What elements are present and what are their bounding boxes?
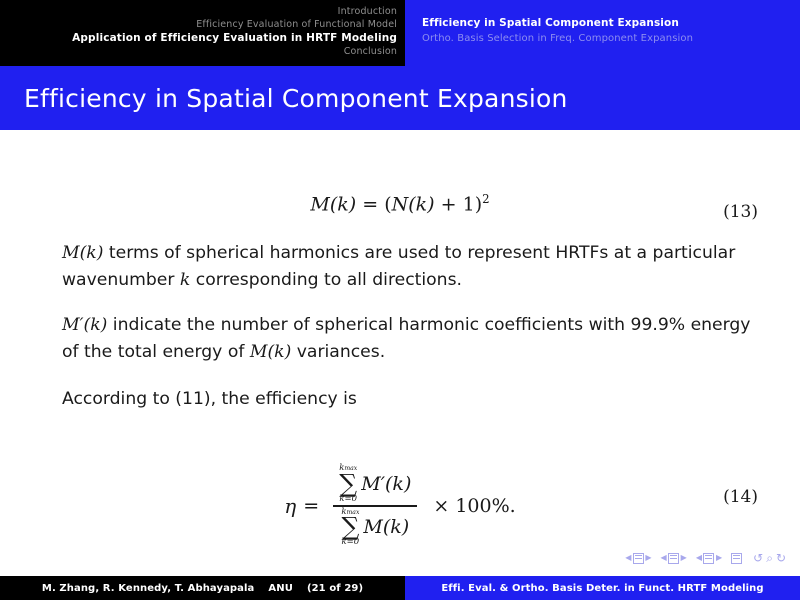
back-icon[interactable]: ↺ [753,552,763,564]
search-icon[interactable]: ⌕ [766,552,773,564]
footer-short-title: Effi. Eval. & Ortho. Basis Deter. in Fun… [441,583,763,594]
sigma-icon: ∑ [341,516,359,538]
sigma-icon: ∑ [339,473,357,495]
footer-authors-block: M. Zhang, R. Kennedy, T. Abhayapala ANU … [0,576,405,600]
next-subsection-icon[interactable]: ▶ [681,554,687,562]
nav-section-conclusion[interactable]: Conclusion [0,45,397,58]
para1-text-tail: corresponding to all directions. [190,270,462,290]
slide-box-icon[interactable] [633,553,644,564]
slide-title-bar: Efficiency in Spatial Component Expansio… [0,66,800,130]
page-title: Efficiency in Spatial Component Expansio… [24,84,568,113]
previous-subsection-icon[interactable]: ◀ [661,554,667,562]
nav-section-introduction[interactable]: Introduction [0,5,397,18]
section-box-icon[interactable] [703,553,714,564]
paragraph-1: M(k) terms of spherical harmonics are us… [62,240,752,294]
equation-14-number: (14) [723,487,758,507]
previous-section-icon[interactable]: ◀ [696,554,702,562]
subsection-navigation-group[interactable]: ◀ ▶ [661,553,687,564]
eq14-den-lower-limit: k=0 [342,538,360,547]
slide-navigation-group[interactable]: ◀ ▶ [625,553,651,564]
nav-subsection-spatial-component[interactable]: Efficiency in Spatial Component Expansio… [422,16,800,31]
previous-slide-icon[interactable]: ◀ [625,554,631,562]
eq14-equals: = [303,495,327,517]
eq13-exponent: 2 [482,192,490,206]
next-slide-icon[interactable]: ▶ [645,554,651,562]
section-navigation[interactable]: Introduction Efficiency Evaluation of Fu… [0,0,405,66]
para2-math-mid: M(k) [250,342,291,362]
eq14-numerator: kmax ∑ k=0 M′(k) [333,463,417,505]
subsection-navigation[interactable]: Efficiency in Spatial Component Expansio… [405,0,800,66]
eq14-numerator-sum: kmax ∑ k=0 [339,464,357,504]
eq14-numerator-term: M′(k) [361,473,411,495]
eq14-denominator: kmax ∑ k=0 M(k) [335,507,415,549]
footer-institution: ANU [268,583,293,594]
eq14-denominator-sum: kmax ∑ k=0 [341,508,359,548]
eq14-fraction: kmax ∑ k=0 M′(k) kmax ∑ k=0 M(k) [327,463,423,548]
footer-title-block: Effi. Eval. & Ortho. Basis Deter. in Fun… [405,576,800,600]
eq14-denominator-term: M(k) [363,516,409,538]
subsection-box-icon[interactable] [668,553,679,564]
slide-header: Introduction Efficiency Evaluation of Fu… [0,0,800,66]
eq14-multiplier: × 100%. [423,495,515,517]
para2-text-tail: variances. [291,342,385,362]
paragraph-3: According to (11), the efficiency is [62,386,752,413]
eq13-equals: = [362,193,378,215]
eq13-plus-one: + 1 [441,193,475,215]
para1-math-lead: M(k) [62,243,103,263]
eq13-close-paren: ) [475,193,482,215]
para2-text: indicate the number of spherical harmoni… [62,315,750,362]
eq13-lhs: M(k) [310,193,356,215]
equation-13: M(k) = (N(k) + 1)2 [0,192,800,215]
eq14-eta: η [284,494,303,518]
eq13-inner: N(k) [392,193,435,215]
document-box-icon[interactable] [731,553,742,564]
footer-authors: M. Zhang, R. Kennedy, T. Abhayapala [42,583,255,594]
forward-icon[interactable]: ↻ [776,552,786,564]
next-section-icon[interactable]: ▶ [716,554,722,562]
beamer-navigation-symbols[interactable]: ◀ ▶ ◀ ▶ ◀ ▶ ↺ ⌕ ↻ [625,552,786,564]
slide-body: M(k) = (N(k) + 1)2 (13) M(k) terms of sp… [0,130,800,570]
equation-14: η = kmax ∑ k=0 M′(k) kmax [0,463,800,548]
paragraph-2: M′(k) indicate the number of spherical h… [62,312,752,366]
footer-page-number: (21 of 29) [307,583,363,594]
equation-13-row: M(k) = (N(k) + 1)2 (13) [0,192,800,215]
slide-footer: M. Zhang, R. Kennedy, T. Abhayapala ANU … [0,576,800,600]
section-navigation-group[interactable]: ◀ ▶ [696,553,722,564]
equation-14-row: η = kmax ∑ k=0 M′(k) kmax [0,463,800,548]
nav-subsection-ortho-basis[interactable]: Ortho. Basis Selection in Freq. Componen… [422,31,800,46]
para1-math-mid: k [180,270,190,290]
eq14-num-lower-limit: k=0 [339,495,357,504]
nav-section-application-hrtf[interactable]: Application of Efficiency Evaluation in … [0,32,397,45]
nav-section-efficiency-evaluation[interactable]: Efficiency Evaluation of Functional Mode… [0,18,397,31]
eq13-open-paren: ( [384,193,391,215]
para2-math-lead: M′(k) [62,315,107,335]
equation-13-number: (13) [723,202,758,222]
